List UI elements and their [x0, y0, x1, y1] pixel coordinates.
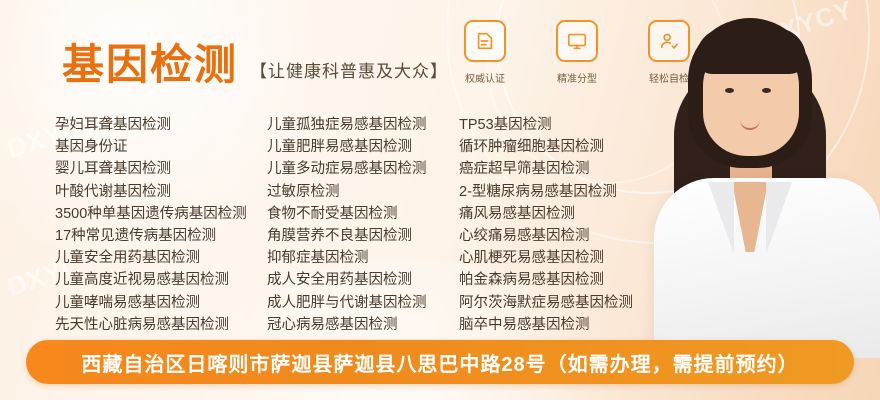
list-item: 先天性心脏病易感基因检测 — [55, 314, 267, 336]
list-item: 冠心病易感基因检测 — [267, 314, 459, 336]
doctor-portrait — [630, 0, 880, 358]
list-item: 角膜营养不良基因检测 — [267, 225, 459, 247]
page-title-main: 基因检测 — [62, 44, 238, 86]
badge-authority: 权威认证 — [454, 20, 516, 85]
list-item: 儿童多动症易感基因检测 — [267, 158, 459, 180]
list-item: 孕妇耳聋基因检测 — [55, 114, 267, 136]
list-item: 成人肥胖与代谢基因检测 — [267, 292, 459, 314]
poster-canvas: DXYCY DXYCY DXYCY DX 基因检测 【让健康科普惠及大众】 权威… — [0, 0, 880, 400]
certificate-icon — [464, 20, 506, 62]
list-item: 婴儿耳聋基因检测 — [55, 158, 267, 180]
list-item: 儿童孤独症易感基因检测 — [267, 114, 459, 136]
badge-label: 权威认证 — [454, 70, 516, 85]
service-list: 孕妇耳聋基因检测 基因身份证 婴儿耳聋基因检测 叶酸代谢基因检测 3500种单基… — [55, 114, 715, 336]
list-item: 食物不耐受基因检测 — [267, 203, 459, 225]
monitor-icon — [556, 20, 598, 62]
list-item: 儿童高度近视易感基因检测 — [55, 269, 267, 291]
list-item: 17种常见遗传病基因检测 — [55, 225, 267, 247]
service-column-1: 孕妇耳聋基因检测 基因身份证 婴儿耳聋基因检测 叶酸代谢基因检测 3500种单基… — [55, 114, 267, 336]
list-item: 儿童肥胖易感基因检测 — [267, 136, 459, 158]
page-title: 基因检测 【让健康科普惠及大众】 — [62, 44, 448, 86]
list-item: 抑郁症基因检测 — [267, 247, 459, 269]
page-title-subtitle: 【让健康科普惠及大众】 — [250, 57, 448, 86]
list-item: 儿童哮喘易感基因检测 — [55, 292, 267, 314]
list-item: 叶酸代谢基因检测 — [55, 181, 267, 203]
list-item: 基因身份证 — [55, 136, 267, 158]
address-bar: 西藏自治区日喀则市萨迦县萨迦县八思巴中路28号（如需办理，需提前预约） — [26, 340, 854, 384]
service-column-2: 儿童孤独症易感基因检测 儿童肥胖易感基因检测 儿童多动症易感基因检测 过敏原检测… — [267, 114, 459, 336]
list-item: 3500种单基因遗传病基因检测 — [55, 203, 267, 225]
address-text: 西藏自治区日喀则市萨迦县萨迦县八思巴中路28号（如需办理，需提前预约） — [81, 348, 798, 377]
badge-precision: 精准分型 — [546, 20, 608, 85]
badge-label: 精准分型 — [546, 70, 608, 85]
portrait-eye-left — [725, 88, 734, 93]
portrait-bangs — [696, 28, 806, 74]
list-item: 儿童安全用药基因检测 — [55, 247, 267, 269]
list-item: 成人安全用药基因检测 — [267, 269, 459, 291]
portrait-collar-right — [766, 182, 792, 254]
portrait-collar-left — [708, 182, 734, 254]
portrait-eye-right — [762, 88, 771, 93]
list-item: 过敏原检测 — [267, 181, 459, 203]
